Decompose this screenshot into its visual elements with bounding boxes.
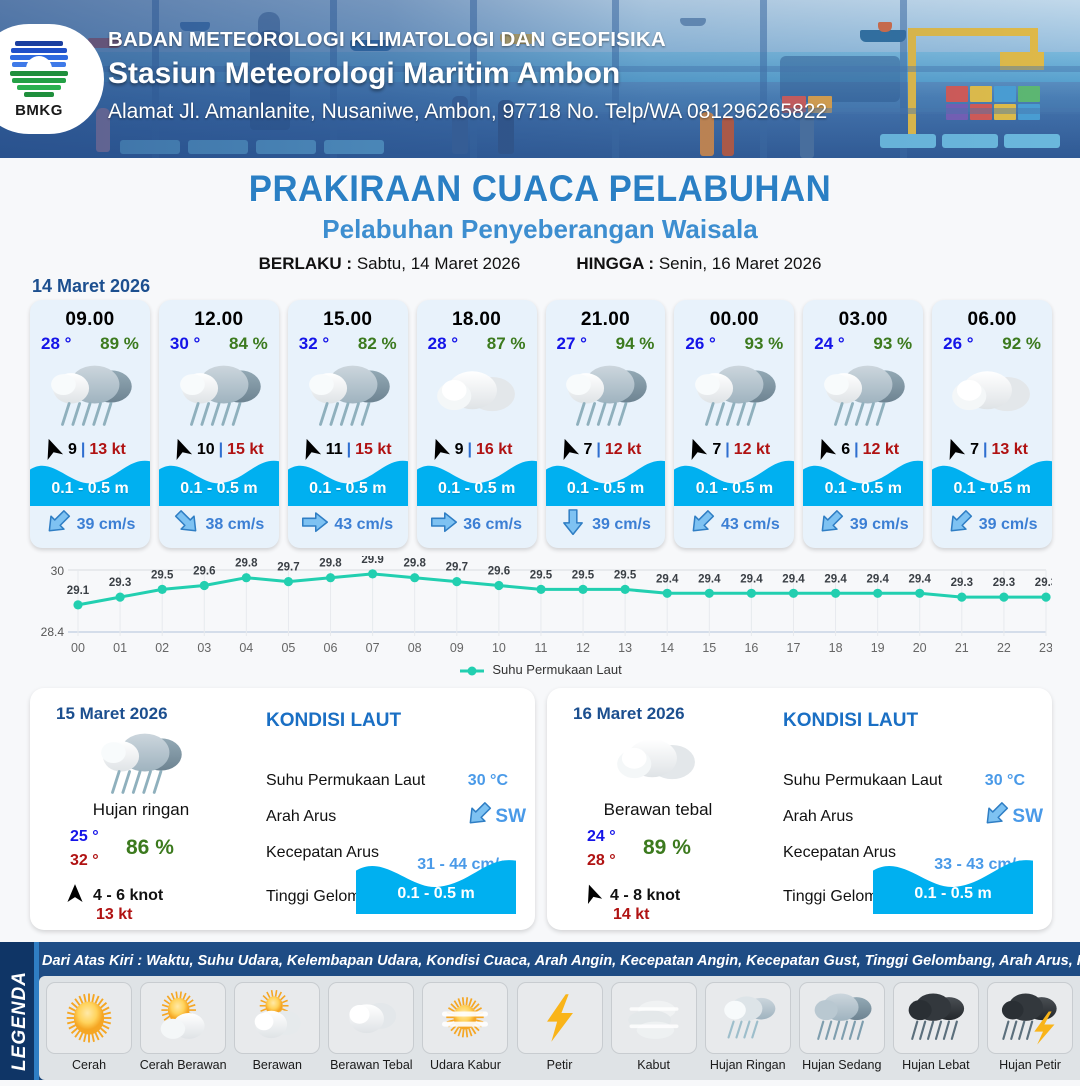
- card-temp-humidity-row: 26 ° 93 %: [674, 331, 794, 354]
- legend-item-label: Berawan: [253, 1058, 302, 1072]
- current-direction-arrow-icon: [302, 512, 328, 537]
- sea-row-value: SW: [466, 804, 526, 830]
- card-wave-height: 0.1 - 0.5 m: [803, 480, 923, 498]
- svg-text:00: 00: [71, 641, 85, 655]
- sea-conditions-rows: Suhu Permukaan Laut30 °CArah Arus SWKece…: [262, 738, 534, 928]
- svg-text:15: 15: [702, 641, 716, 655]
- chart-legend: Suhu Permukaan Laut: [0, 662, 1080, 677]
- svg-text:22: 22: [997, 641, 1011, 655]
- card-humidity: 94 %: [616, 334, 655, 354]
- cloud-sun-icon: [234, 982, 320, 1054]
- card-time: 18.00: [452, 309, 501, 331]
- svg-text:29.8: 29.8: [319, 558, 342, 570]
- svg-text:29.4: 29.4: [698, 573, 721, 585]
- card-weather-icon: [159, 355, 279, 435]
- current-direction-arrow-icon: [431, 512, 457, 537]
- current-direction-arrow-icon: [560, 512, 586, 537]
- panel-humidity: 89 %: [643, 836, 691, 860]
- legend-item-label: Petir: [547, 1058, 573, 1072]
- card-wave-band: 0.1 - 0.5 m: [803, 454, 923, 506]
- hour-forecast-card: 06.00 26 ° 92 % 7 | 13 kt 0.1 - 0.5 m: [932, 300, 1052, 548]
- card-wave-band: 0.1 - 0.5 m: [30, 454, 150, 506]
- svg-text:29.4: 29.4: [740, 573, 763, 585]
- panel-weather-icon: [609, 726, 705, 800]
- card-wave-height: 0.1 - 0.5 m: [159, 480, 279, 498]
- sun-icon: [46, 982, 132, 1054]
- daily-forecast-panel: 15 Maret 2026 Hujan ringan 25 ° 32 ° 86 …: [30, 688, 535, 930]
- daily-forecast-panel: 16 Maret 2026 Berawan tebal 24 ° 28 ° 89…: [547, 688, 1052, 930]
- legend-item-label: Berawan Tebal: [330, 1058, 412, 1072]
- card-temp-humidity-row: 27 ° 94 %: [546, 331, 666, 354]
- card-wave-height: 0.1 - 0.5 m: [546, 480, 666, 498]
- card-current-speed: 43 cm/s: [721, 516, 780, 534]
- legend-item-label: Hujan Lebat: [902, 1058, 969, 1072]
- panel-gust: 13 kt: [96, 906, 132, 924]
- forecast-day-label: 14 Maret 2026: [32, 276, 150, 297]
- svg-text:17: 17: [787, 641, 801, 655]
- legend-item: Hujan Sedang: [796, 982, 888, 1072]
- bmkg-logo-text: BMKG: [15, 102, 63, 119]
- card-current-speed: 39 cm/s: [979, 516, 1038, 534]
- card-wave-band: 0.1 - 0.5 m: [288, 454, 408, 506]
- wave-height-badge: 0.1 - 0.5 m: [356, 852, 516, 914]
- panel-weather-icon: [92, 726, 188, 800]
- svg-text:28.4: 28.4: [41, 625, 65, 639]
- current-direction-arrow-icon: [818, 512, 844, 537]
- legend-item: Udara Kabur: [419, 982, 511, 1072]
- card-wave-height: 0.1 - 0.5 m: [30, 480, 150, 498]
- svg-text:03: 03: [197, 641, 211, 655]
- card-current-row: 39 cm/s: [803, 507, 923, 543]
- panel-temp-min: 25 °: [70, 828, 99, 846]
- validity-row: BERLAKU : Sabtu, 14 Maret 2026 HINGGA : …: [0, 254, 1080, 274]
- svg-text:12: 12: [576, 641, 590, 655]
- station-address: Alamat Jl. Amanlanite, Nusaniwe, Ambon, …: [108, 100, 827, 124]
- card-current-row: 39 cm/s: [546, 507, 666, 543]
- card-temp-humidity-row: 30 ° 84 %: [159, 331, 279, 354]
- current-direction-arrow-icon: [466, 804, 492, 830]
- svg-text:04: 04: [239, 641, 253, 655]
- wave-height-badge: 0.1 - 0.5 m: [873, 852, 1033, 914]
- legend-item-label: Udara Kabur: [430, 1058, 501, 1072]
- card-weather-icon: [932, 355, 1052, 435]
- title-block: PRAKIRAAN CUACA PELABUHAN Pelabuhan Peny…: [0, 168, 1080, 274]
- legend-item: Hujan Petir: [984, 982, 1076, 1072]
- svg-text:29.6: 29.6: [488, 566, 510, 578]
- berlaku-value: Sabtu, 14 Maret 2026: [357, 254, 521, 273]
- panel-temp-max: 32 °: [70, 852, 99, 870]
- sea-row-value: 0.1 - 0.5 m: [356, 885, 516, 903]
- svg-text:18: 18: [829, 641, 843, 655]
- legend-item-label: Hujan Sedang: [802, 1058, 881, 1072]
- svg-text:29.9: 29.9: [361, 556, 383, 566]
- svg-text:21: 21: [955, 641, 969, 655]
- page-subtitle: Pelabuhan Penyeberangan Waisala: [0, 214, 1080, 245]
- legend-item: Petir: [513, 982, 605, 1072]
- chart-legend-label: Suhu Permukaan Laut: [492, 662, 621, 677]
- daily-forecast-panels: 15 Maret 2026 Hujan ringan 25 ° 32 ° 86 …: [30, 688, 1052, 930]
- svg-text:29.4: 29.4: [782, 573, 805, 585]
- panel-condition: Berawan tebal: [547, 800, 769, 820]
- bmkg-logo-mark: [8, 39, 70, 101]
- card-time: 12.00: [194, 309, 243, 331]
- panel-condition: Hujan ringan: [30, 800, 252, 820]
- header-text-block: BADAN METEOROLOGI KLIMATOLOGI DAN GEOFIS…: [108, 28, 827, 124]
- light-rain-icon: [705, 982, 791, 1054]
- haze-icon: [422, 982, 508, 1054]
- svg-text:29.6: 29.6: [193, 566, 215, 578]
- card-humidity: 87 %: [487, 334, 526, 354]
- card-current-row: 39 cm/s: [932, 507, 1052, 543]
- svg-text:29.3: 29.3: [1035, 577, 1052, 589]
- legend-item: Berawan Tebal: [325, 982, 417, 1072]
- card-humidity: 92 %: [1002, 334, 1041, 354]
- card-temp-humidity-row: 28 ° 89 %: [30, 331, 150, 354]
- hour-forecast-card: 00.00 26 ° 93 % 7 | 12 kt 0.1 - 0.5 m: [674, 300, 794, 548]
- legend-items-strip: Cerah Cerah Berawan Berawan: [39, 976, 1080, 1080]
- panel-wind-row: 4 - 6 knot: [64, 882, 163, 909]
- card-time: 09.00: [65, 309, 114, 331]
- card-temp-humidity-row: 32 ° 82 %: [288, 331, 408, 354]
- sun-cloud-icon: [140, 982, 226, 1054]
- svg-text:29.5: 29.5: [151, 569, 174, 581]
- current-direction-arrow-icon: [983, 804, 1009, 830]
- card-current-row: 43 cm/s: [288, 507, 408, 543]
- heavy-rain-icon: [893, 982, 979, 1054]
- svg-text:29.4: 29.4: [867, 573, 890, 585]
- sst-chart-svg: 3028.429.10029.30129.50229.60329.80429.7…: [30, 556, 1052, 676]
- sea-conditions-title: KONDISI LAUT: [783, 710, 1051, 732]
- panel-temp-max: 28 °: [587, 852, 616, 870]
- sst-chart: 3028.429.10029.30129.50229.60329.80429.7…: [30, 556, 1052, 676]
- svg-text:02: 02: [155, 641, 169, 655]
- card-current-speed: 39 cm/s: [77, 516, 136, 534]
- card-weather-icon: [30, 355, 150, 435]
- card-current-speed: 39 cm/s: [850, 516, 909, 534]
- page-title: PRAKIRAAN CUACA PELABUHAN: [32, 168, 1047, 210]
- svg-text:14: 14: [660, 641, 674, 655]
- svg-text:01: 01: [113, 641, 127, 655]
- svg-text:29.4: 29.4: [909, 573, 932, 585]
- legend-item: Kabut: [608, 982, 700, 1072]
- sea-conditions-title: KONDISI LAUT: [266, 710, 534, 732]
- card-current-speed: 39 cm/s: [592, 516, 651, 534]
- sea-row-value: 30 °C: [468, 772, 508, 790]
- card-temp-humidity-row: 24 ° 93 %: [803, 331, 923, 354]
- card-weather-icon: [546, 355, 666, 435]
- lightning-icon: [517, 982, 603, 1054]
- legend-item-label: Hujan Ringan: [710, 1058, 786, 1072]
- card-time: 21.00: [581, 309, 630, 331]
- svg-text:30: 30: [51, 564, 65, 578]
- card-wave-band: 0.1 - 0.5 m: [417, 454, 537, 506]
- sea-row-label: Suhu Permukaan Laut: [783, 772, 942, 790]
- svg-text:10: 10: [492, 641, 506, 655]
- legend-item: Hujan Ringan: [702, 982, 794, 1072]
- card-current-row: 38 cm/s: [159, 507, 279, 543]
- legend-item: Berawan: [231, 982, 323, 1072]
- svg-text:07: 07: [366, 641, 380, 655]
- svg-text:06: 06: [324, 641, 338, 655]
- card-humidity: 89 %: [100, 334, 139, 354]
- panel-wind-range: 4 - 8 knot: [610, 887, 680, 905]
- card-time: 03.00: [839, 309, 888, 331]
- card-weather-icon: [288, 355, 408, 435]
- hingga-value: Senin, 16 Maret 2026: [659, 254, 822, 273]
- hourly-forecast-row: 09.00 28 ° 89 % 9 | 13 kt 0.1 - 0.5 m: [30, 300, 1052, 548]
- berlaku-label: BERLAKU :: [259, 254, 353, 273]
- wave-shape-icon: [873, 852, 1033, 914]
- panel-date: 16 Maret 2026: [573, 704, 685, 724]
- hour-forecast-card: 15.00 32 ° 82 % 11 | 15 kt 0.1 - 0.5 m: [288, 300, 408, 548]
- svg-text:29.5: 29.5: [614, 569, 637, 581]
- station-name: Stasiun Meteorologi Maritim Ambon: [108, 57, 827, 91]
- card-current-row: 36 cm/s: [417, 507, 537, 543]
- card-weather-icon: [674, 355, 794, 435]
- svg-text:09: 09: [450, 641, 464, 655]
- page-header: BMKG BADAN METEOROLOGI KLIMATOLOGI DAN G…: [0, 0, 1080, 158]
- card-time: 00.00: [710, 309, 759, 331]
- current-direction-arrow-icon: [174, 512, 200, 537]
- svg-text:29.3: 29.3: [993, 577, 1015, 589]
- chart-legend-marker: [458, 665, 486, 677]
- wave-shape-icon: [356, 852, 516, 914]
- hour-forecast-card: 18.00 28 ° 87 % 9 | 16 kt 0.1 - 0.5 m: [417, 300, 537, 548]
- hingga-label: HINGGA :: [576, 254, 654, 273]
- svg-text:20: 20: [913, 641, 927, 655]
- card-temperature: 28 °: [41, 334, 71, 354]
- agency-name: BADAN METEOROLOGI KLIMATOLOGI DAN GEOFIS…: [108, 28, 827, 52]
- card-weather-icon: [417, 355, 537, 435]
- legend-item-label: Cerah Berawan: [140, 1058, 227, 1072]
- card-temperature: 24 °: [814, 334, 844, 354]
- card-temp-humidity-row: 28 ° 87 %: [417, 331, 537, 354]
- sea-row-value: SW: [983, 804, 1043, 830]
- sea-conditions-block: KONDISI LAUT Suhu Permukaan Laut30 °CAra…: [779, 710, 1051, 926]
- card-humidity: 93 %: [873, 334, 912, 354]
- hour-forecast-card: 09.00 28 ° 89 % 9 | 13 kt 0.1 - 0.5 m: [30, 300, 150, 548]
- svg-text:19: 19: [871, 641, 885, 655]
- svg-text:29.7: 29.7: [277, 562, 299, 574]
- svg-text:08: 08: [408, 641, 422, 655]
- berlaku-group: BERLAKU : Sabtu, 14 Maret 2026: [259, 254, 521, 274]
- card-temperature: 30 °: [170, 334, 200, 354]
- svg-text:29.8: 29.8: [235, 558, 258, 570]
- svg-text:29.4: 29.4: [824, 573, 847, 585]
- card-current-speed: 36 cm/s: [463, 516, 522, 534]
- sea-row-value: 0.1 - 0.5 m: [873, 885, 1033, 903]
- legend-item-label: Kabut: [637, 1058, 670, 1072]
- card-current-speed: 38 cm/s: [206, 516, 265, 534]
- svg-text:29.8: 29.8: [404, 558, 427, 570]
- hingga-group: HINGGA : Senin, 16 Maret 2026: [576, 254, 821, 274]
- sea-row-value: 30 °C: [985, 772, 1025, 790]
- sea-row-label: Arah Arus: [783, 808, 853, 826]
- card-current-row: 39 cm/s: [30, 507, 150, 543]
- hour-forecast-card: 03.00 24 ° 93 % 6 | 12 kt 0.1 - 0.5 m: [803, 300, 923, 548]
- svg-text:29.3: 29.3: [951, 577, 973, 589]
- sea-conditions-block: KONDISI LAUT Suhu Permukaan Laut30 °CAra…: [262, 710, 534, 926]
- sea-conditions-rows: Suhu Permukaan Laut30 °CArah Arus SWKece…: [779, 738, 1051, 928]
- card-temperature: 26 °: [943, 334, 973, 354]
- svg-text:29.7: 29.7: [446, 562, 468, 574]
- svg-text:05: 05: [281, 641, 295, 655]
- sea-row-label: Arah Arus: [266, 808, 336, 826]
- card-humidity: 82 %: [358, 334, 397, 354]
- panel-wind-range: 4 - 6 knot: [93, 887, 163, 905]
- legend-item: Cerah Berawan: [137, 982, 229, 1072]
- hour-forecast-card: 21.00 27 ° 94 % 7 | 12 kt 0.1 - 0.5 m: [546, 300, 666, 548]
- svg-text:29.5: 29.5: [530, 569, 553, 581]
- svg-text:16: 16: [744, 641, 758, 655]
- current-direction-arrow-icon: [689, 512, 715, 537]
- hour-forecast-card: 12.00 30 ° 84 % 10 | 15 kt 0.1 - 0.5 m: [159, 300, 279, 548]
- legend-item: Cerah: [43, 982, 135, 1072]
- card-humidity: 93 %: [745, 334, 784, 354]
- wind-direction-arrow-icon: [64, 882, 86, 909]
- card-wave-band: 0.1 - 0.5 m: [159, 454, 279, 506]
- card-wave-height: 0.1 - 0.5 m: [417, 480, 537, 498]
- svg-text:23: 23: [1039, 641, 1052, 655]
- thunderstorm-icon: [987, 982, 1073, 1054]
- card-temperature: 27 °: [557, 334, 587, 354]
- panel-temp-min: 24 °: [587, 828, 616, 846]
- legend-item: Hujan Lebat: [890, 982, 982, 1072]
- legend-note: Dari Atas Kiri : Waktu, Suhu Udara, Kele…: [42, 953, 1072, 969]
- panel-humidity: 86 %: [126, 836, 174, 860]
- svg-text:13: 13: [618, 641, 632, 655]
- card-wave-height: 0.1 - 0.5 m: [932, 480, 1052, 498]
- card-current-speed: 43 cm/s: [334, 516, 393, 534]
- card-temperature: 26 °: [685, 334, 715, 354]
- legend-sidebar-title: LEGENDA: [9, 956, 31, 1086]
- card-time: 15.00: [323, 309, 372, 331]
- card-wave-height: 0.1 - 0.5 m: [674, 480, 794, 498]
- card-current-row: 43 cm/s: [674, 507, 794, 543]
- current-direction-arrow-icon: [45, 512, 71, 537]
- card-wave-band: 0.1 - 0.5 m: [546, 454, 666, 506]
- card-humidity: 84 %: [229, 334, 268, 354]
- cloud-icon: [328, 982, 414, 1054]
- legend-item-label: Cerah: [72, 1058, 106, 1072]
- svg-text:11: 11: [535, 641, 548, 655]
- card-wave-height: 0.1 - 0.5 m: [288, 480, 408, 498]
- svg-text:29.1: 29.1: [67, 585, 90, 597]
- legend-item-label: Hujan Petir: [999, 1058, 1061, 1072]
- card-temperature: 28 °: [428, 334, 458, 354]
- card-weather-icon: [803, 355, 923, 435]
- moderate-rain-icon: [799, 982, 885, 1054]
- panel-date: 15 Maret 2026: [56, 704, 168, 724]
- sea-row-label: Suhu Permukaan Laut: [266, 772, 425, 790]
- svg-text:29.5: 29.5: [572, 569, 595, 581]
- svg-text:29.4: 29.4: [656, 573, 679, 585]
- svg-text:29.3: 29.3: [109, 577, 131, 589]
- card-wave-band: 0.1 - 0.5 m: [674, 454, 794, 506]
- wind-direction-arrow-icon: [581, 882, 603, 909]
- fog-icon: [611, 982, 697, 1054]
- current-direction-arrow-icon: [947, 512, 973, 537]
- card-time: 06.00: [968, 309, 1017, 331]
- card-temperature: 32 °: [299, 334, 329, 354]
- card-temp-humidity-row: 26 ° 92 %: [932, 331, 1052, 354]
- panel-wind-row: 4 - 8 knot: [581, 882, 680, 909]
- card-wave-band: 0.1 - 0.5 m: [932, 454, 1052, 506]
- panel-gust: 14 kt: [613, 906, 649, 924]
